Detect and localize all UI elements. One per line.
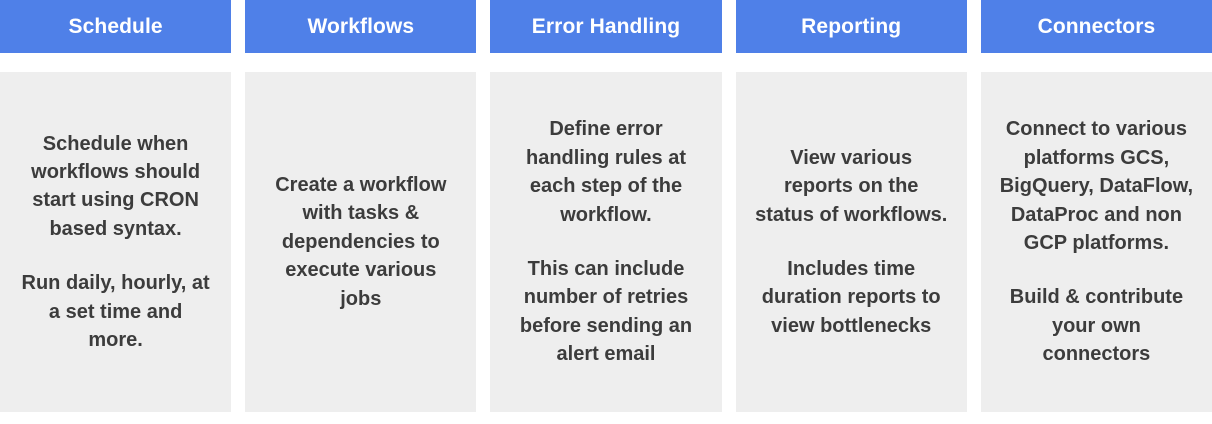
feature-column-connectors: Connectors Connect to various platforms … — [981, 0, 1212, 424]
column-paragraph: Includes time duration reports to view b… — [762, 255, 941, 340]
column-paragraph: Define error handling rules at each step… — [526, 115, 686, 229]
column-paragraph: Schedule when workflows should start usi… — [31, 130, 200, 244]
header-body-gap — [245, 53, 476, 72]
feature-column-workflows: Workflows Create a workflow with tasks &… — [245, 0, 476, 424]
header-body-gap — [0, 53, 231, 72]
column-paragraph: Create a workflow with tasks & dependenc… — [275, 171, 446, 313]
feature-column-reporting: Reporting View various reports on the st… — [736, 0, 967, 424]
column-header-connectors[interactable]: Connectors — [981, 0, 1212, 53]
column-header-reporting[interactable]: Reporting — [736, 0, 967, 53]
column-paragraph: View various reports on the status of wo… — [755, 144, 947, 229]
feature-column-schedule: Schedule Schedule when workflows should … — [0, 0, 231, 424]
column-paragraph: Connect to various platforms GCS, BigQue… — [1000, 115, 1193, 257]
column-body-schedule: Schedule when workflows should start usi… — [0, 72, 231, 412]
column-body-workflows: Create a workflow with tasks & dependenc… — [245, 72, 476, 412]
column-header-error-handling[interactable]: Error Handling — [490, 0, 721, 53]
column-body-connectors: Connect to various platforms GCS, BigQue… — [981, 72, 1212, 412]
column-header-workflows[interactable]: Workflows — [245, 0, 476, 53]
header-body-gap — [736, 53, 967, 72]
column-paragraph: Run daily, hourly, at a set time and mor… — [22, 269, 210, 354]
column-paragraph: Build & contribute your own connectors — [1010, 283, 1183, 368]
column-paragraph: This can include number of retries befor… — [520, 255, 692, 369]
feature-columns-board: Schedule Schedule when workflows should … — [0, 0, 1212, 424]
feature-column-error-handling: Error Handling Define error handling rul… — [490, 0, 721, 424]
column-body-error-handling: Define error handling rules at each step… — [490, 72, 721, 412]
header-body-gap — [490, 53, 721, 72]
column-header-schedule[interactable]: Schedule — [0, 0, 231, 53]
header-body-gap — [981, 53, 1212, 72]
column-body-reporting: View various reports on the status of wo… — [736, 72, 967, 412]
